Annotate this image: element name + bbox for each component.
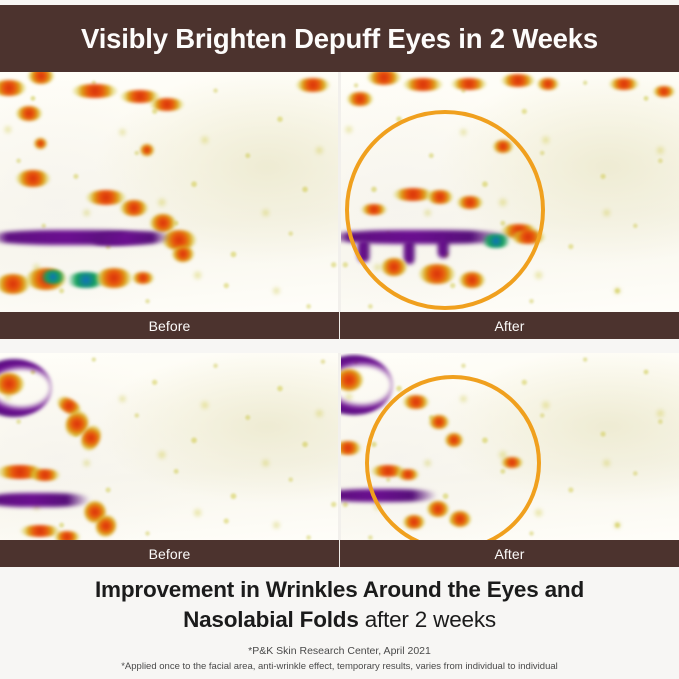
thermal-image-before-nasolabial: [0, 353, 338, 540]
header-banner: Visibly Brighten Depuff Eyes in 2 Weeks: [0, 5, 679, 72]
thermal-image-after-nasolabial: [341, 353, 679, 540]
panel-divider-vertical-1: [338, 72, 341, 312]
footer-disclaimer: *P&K Skin Research Center, April 2021 *A…: [0, 643, 679, 674]
caption-bar-nasolabial-area: Before After: [0, 540, 679, 567]
caption-before-nasolabial: Before: [0, 540, 339, 567]
caption-after-nasolabial: After: [340, 540, 679, 567]
caption-bar-eye-area: Before After: [0, 312, 679, 339]
caption-before-eye: Before: [0, 312, 339, 339]
comparison-row-nasolabial-area: [0, 353, 679, 540]
footer-headline: Improvement in Wrinkles Around the Eyes …: [0, 575, 679, 634]
thermal-texture: [341, 353, 679, 540]
footnote-source: *P&K Skin Research Center, April 2021: [248, 645, 431, 657]
thermal-image-after-eye: [341, 72, 679, 312]
footer-headline-bold: Improvement in Wrinkles Around the Eyes …: [95, 577, 584, 632]
comparison-row-eye-area: [0, 72, 679, 312]
promo-image-root: Visibly Brighten Depuff Eyes in 2 Weeks: [0, 0, 679, 679]
thermal-texture: [0, 72, 338, 312]
footnote-usage: *Applied once to the facial area, anti-w…: [0, 660, 679, 675]
footer-headline-regular: after 2 weeks: [359, 607, 496, 632]
panel-divider-vertical-2: [338, 353, 341, 540]
thermal-speckle-layer-soft: [341, 72, 679, 312]
thermal-texture: [341, 72, 679, 312]
footer-section: Improvement in Wrinkles Around the Eyes …: [0, 567, 679, 679]
header-title: Visibly Brighten Depuff Eyes in 2 Weeks: [81, 23, 598, 55]
thermal-image-before-eye: [0, 72, 338, 312]
caption-after-eye: After: [340, 312, 679, 339]
thermal-texture: [0, 353, 338, 540]
